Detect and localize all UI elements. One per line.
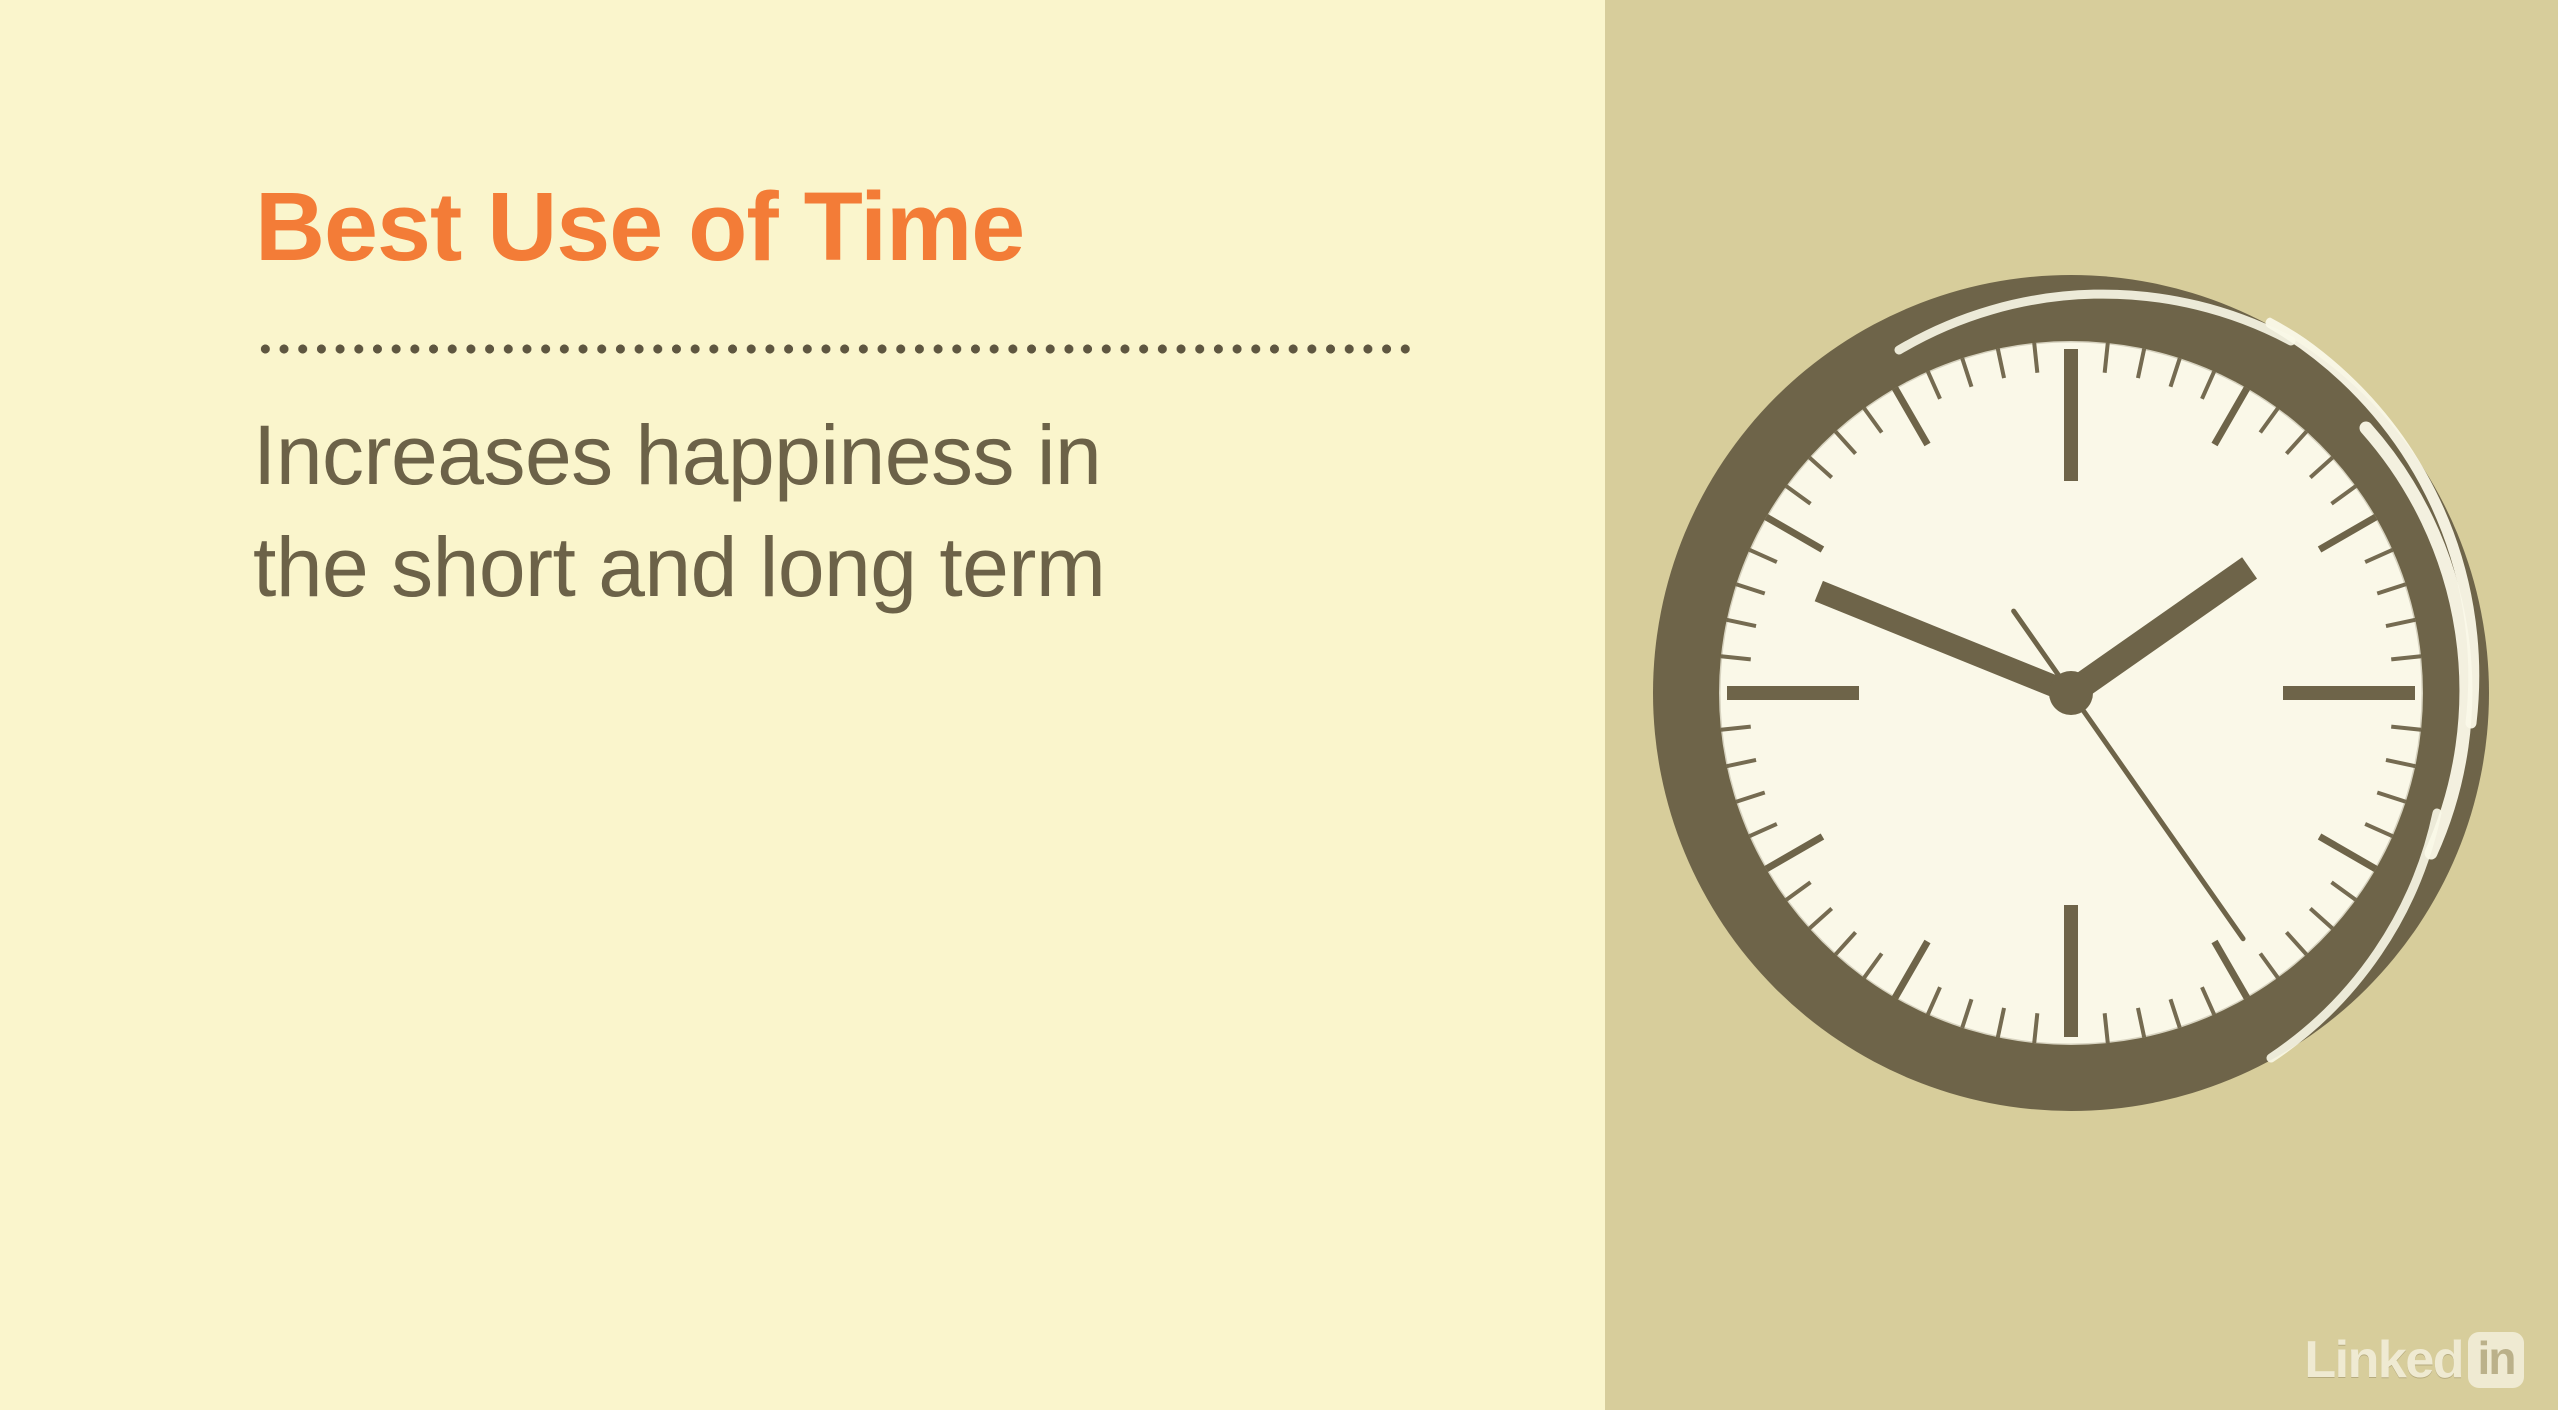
linkedin-badge-icon: in: [2468, 1332, 2524, 1388]
left-text-panel: Best Use of Time Increases happiness in …: [0, 0, 1605, 1410]
clock-center-hub: [2049, 671, 2093, 715]
linkedin-wordmark: Linked: [2304, 1334, 2463, 1386]
clock-svg: [1631, 253, 2511, 1133]
subtitle-line-2: the short and long term: [253, 512, 1573, 624]
subtitle-block: Increases happiness in the short and lon…: [253, 400, 1573, 623]
subtitle-line-1: Increases happiness in: [253, 400, 1573, 512]
dotted-divider: [256, 342, 1416, 356]
divider-dots: [256, 342, 1416, 356]
right-image-panel: Linked in: [1605, 0, 2558, 1410]
linkedin-badge-label: in: [2478, 1335, 2515, 1381]
linkedin-watermark: Linked in: [2304, 1328, 2524, 1392]
page-title: Best Use of Time: [255, 178, 1024, 275]
slide-root: Best Use of Time Increases happiness in …: [0, 0, 2558, 1410]
clock-icon: [1631, 253, 2511, 1133]
